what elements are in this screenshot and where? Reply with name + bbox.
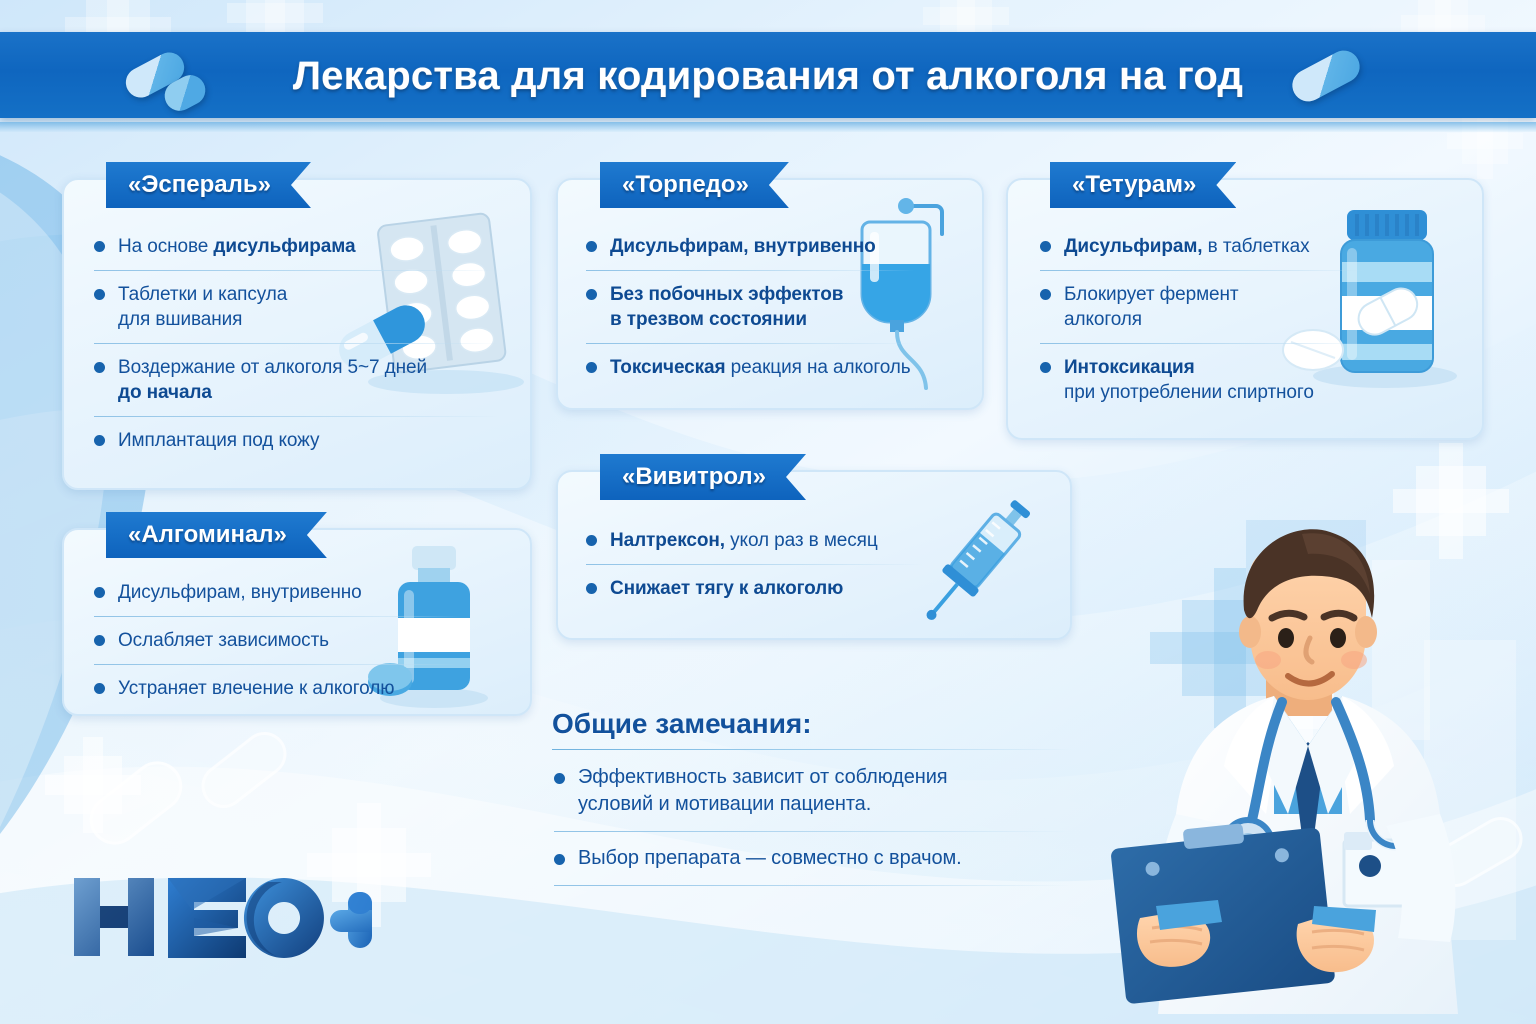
bullet-text: Налтрексон, укол раз в месяц	[610, 530, 878, 551]
list-item: На основе дисульфирама	[92, 234, 500, 259]
divider	[94, 343, 500, 344]
bullet-dot	[586, 362, 597, 373]
bullet-text: Выбор препарата — совместно с врачом.	[578, 847, 962, 869]
divider	[94, 616, 462, 617]
cross-icon	[64, 756, 122, 814]
list-item: Ослабляет зависимость	[92, 628, 462, 653]
divider	[1040, 270, 1368, 271]
card-torpedo-bullets: Дисульфирам, внутривенно Без побочных эф…	[584, 234, 914, 380]
bullet-text: Дисульфирам, в таблетках	[1064, 236, 1310, 257]
list-item: Имплантация под кожу	[92, 428, 500, 453]
card-esperal-inner: На основе дисульфирама Таблетки и капсул…	[64, 180, 530, 488]
infographic-poster: Лекарства для кодирования от алкоголя на…	[0, 0, 1536, 1024]
general-notes: Общие замечания: Эффективность зависит о…	[552, 708, 1072, 886]
divider	[94, 664, 462, 665]
divider	[552, 749, 1072, 750]
card-torpedo: Дисульфирам, внутривенно Без побочных эф…	[556, 178, 984, 410]
general-notes-title: Общие замечания:	[552, 708, 1072, 740]
neo-plus-logo-icon	[72, 872, 372, 962]
bullet-dot	[94, 587, 105, 598]
capsule-icon	[193, 723, 296, 817]
card-vivitrol-bullets: Налтрексон, укол раз в месяц Снижает тяг…	[584, 528, 924, 601]
bullet-dot	[94, 435, 105, 446]
bullet-dot	[94, 289, 105, 300]
list-item: Эффективность зависит от соблюденияуслов…	[552, 764, 1072, 818]
list-item: Блокирует ферменталкоголя	[1038, 282, 1368, 332]
bullet-text: Воздержание от алкоголя 5~7 днейдо начал…	[118, 357, 427, 403]
list-item: Дисульфирам, внутривенно	[584, 234, 914, 259]
card-esperal-title: «Эспераль»	[106, 162, 311, 208]
bullet-text: Снижает тягу к алкоголю	[610, 578, 843, 599]
divider	[554, 831, 1072, 832]
bullet-dot	[586, 241, 597, 252]
list-item: Налтрексон, укол раз в месяц	[584, 528, 924, 553]
card-teturam: Дисульфирам, в таблетках Блокирует ферме…	[1006, 178, 1484, 440]
bullet-dot	[94, 683, 105, 694]
card-teturam-title: «Тетурам»	[1050, 162, 1236, 208]
bullet-text: Интоксикацияпри употреблении спиртного	[1064, 357, 1314, 403]
list-item: Таблетки и капсуладля вшивания	[92, 282, 500, 332]
bullet-dot	[554, 854, 565, 865]
bullet-dot	[586, 535, 597, 546]
card-teturam-bullets: Дисульфирам, в таблетках Блокирует ферме…	[1038, 234, 1368, 405]
card-torpedo-inner: Дисульфирам, внутривенно Без побочных эф…	[558, 180, 982, 408]
list-item: Интоксикацияпри употреблении спиртного	[1038, 355, 1368, 405]
list-item: Снижает тягу к алкоголю	[584, 576, 924, 601]
bullet-text: Ослабляет зависимость	[118, 630, 329, 651]
bullet-dot	[94, 635, 105, 646]
bullet-dot	[554, 773, 565, 784]
bullet-text: Токсическая реакция на алкоголь	[610, 357, 911, 378]
list-item: Дисульфирам, в таблетках	[1038, 234, 1368, 259]
bullet-dot	[1040, 289, 1051, 300]
list-item: Токсическая реакция на алкоголь	[584, 355, 914, 380]
divider	[1040, 343, 1368, 344]
card-algominal-bullets: Дисульфирам, внутривенно Ослабляет завис…	[92, 580, 462, 701]
divider	[94, 416, 500, 417]
bullet-text: Дисульфирам, внутривенно	[610, 236, 876, 257]
bullet-text: Имплантация под кожу	[118, 430, 319, 451]
page-title: Лекарства для кодирования от алкоголя на…	[0, 34, 1536, 118]
list-item: Выбор препарата — совместно с врачом.	[552, 845, 1072, 872]
bullet-text: Без побочных эффектовв трезвом состоянии	[610, 284, 843, 330]
list-item: Устраняет влечение к алкоголю	[92, 676, 462, 701]
bullet-dot	[94, 241, 105, 252]
divider	[586, 343, 914, 344]
bullet-text: Блокирует ферменталкоголя	[1064, 284, 1239, 330]
bullet-text: Дисульфирам, внутривенно	[118, 582, 362, 603]
card-vivitrol: Налтрексон, укол раз в месяц Снижает тяг…	[556, 470, 1072, 640]
bullet-text: На основе дисульфирама	[118, 236, 355, 257]
card-esperal: На основе дисульфирама Таблетки и капсул…	[62, 178, 532, 490]
list-item: Без побочных эффектовв трезвом состоянии	[584, 282, 914, 332]
bullet-dot	[1040, 362, 1051, 373]
divider	[94, 270, 500, 271]
bullet-text: Таблетки и капсуладля вшивания	[118, 284, 287, 330]
card-torpedo-title: «Торпедо»	[600, 162, 789, 208]
divider	[554, 885, 1072, 886]
brand-logo	[72, 872, 372, 962]
bullet-dot	[586, 289, 597, 300]
divider	[586, 270, 914, 271]
card-algominal-title: «Алгоминал»	[106, 512, 327, 558]
list-item: Дисульфирам, внутривенно	[92, 580, 462, 605]
bullet-dot	[586, 583, 597, 594]
capsule-icon	[80, 751, 193, 854]
list-item: Воздержание от алкоголя 5~7 днейдо начал…	[92, 355, 500, 405]
doctor-illustration	[1098, 514, 1518, 1024]
card-teturam-inner: Дисульфирам, в таблетках Блокирует ферме…	[1008, 180, 1482, 438]
card-esperal-bullets: На основе дисульфирама Таблетки и капсул…	[92, 234, 500, 453]
bullet-text: Устраняет влечение к алкоголю	[118, 678, 394, 699]
divider	[586, 564, 924, 565]
card-algominal: Дисульфирам, внутривенно Ослабляет завис…	[62, 528, 532, 716]
card-vivitrol-title: «Вивитрол»	[600, 454, 806, 500]
bullet-text: Эффективность зависит от соблюденияуслов…	[578, 766, 948, 815]
bullet-dot	[1040, 241, 1051, 252]
bullet-dot	[94, 362, 105, 373]
